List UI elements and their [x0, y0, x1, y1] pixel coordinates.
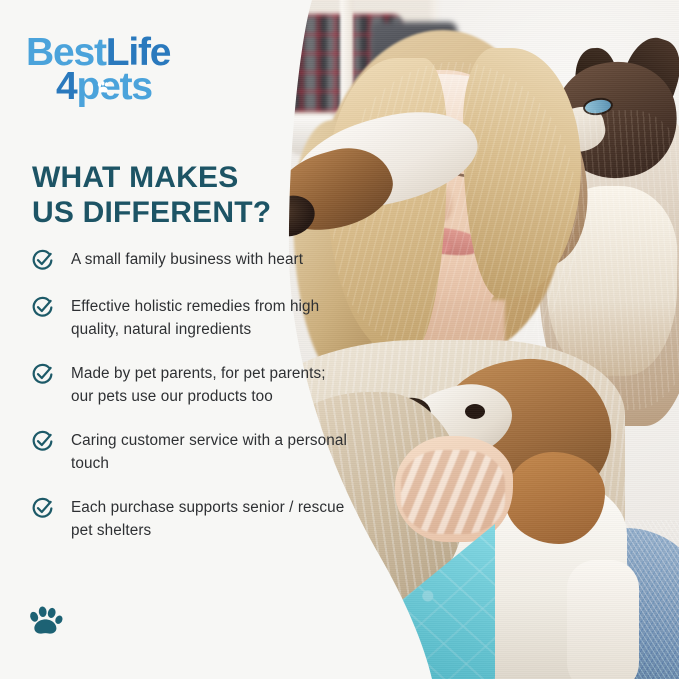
list-item-label: Each purchase supports senior / rescue p…: [71, 496, 351, 543]
brand-logo[interactable]: BestLife 4pets: [26, 34, 170, 106]
headline-line-one: WHAT MAKES: [32, 160, 271, 195]
headline-line-two: US DIFFERENT?: [32, 195, 271, 230]
logo-word-pets: pets: [77, 65, 152, 108]
front-dog-brown-patch: [505, 452, 605, 544]
check-circle-icon: [31, 296, 54, 319]
check-circle-icon: [31, 363, 54, 386]
list-item: Made by pet parents, for pet parents; ou…: [31, 362, 351, 409]
check-circle-icon: [31, 430, 54, 453]
footer-paw-print-icon: [27, 604, 65, 640]
list-item-label: A small family business with heart: [71, 248, 303, 271]
benefits-list: A small family business with heart Effec…: [31, 248, 351, 562]
list-item: Effective holistic remedies from high qu…: [31, 295, 351, 342]
front-dog-hind-leg: [567, 560, 639, 679]
list-item: A small family business with heart: [31, 248, 351, 272]
list-item-label: Made by pet parents, for pet parents; ou…: [71, 362, 351, 409]
advertisement-creative: BestLife 4pets WHAT MAKES US DIFFERENT?: [0, 0, 679, 679]
page-title: WHAT MAKES US DIFFERENT?: [32, 160, 271, 231]
front-dog-eye: [465, 404, 485, 419]
list-item: Caring customer service with a personal …: [31, 429, 351, 476]
woman-fingers: [401, 450, 505, 534]
list-item-label: Effective holistic remedies from high qu…: [71, 295, 351, 342]
list-item-label: Caring customer service with a personal …: [71, 429, 351, 476]
logo-numeral-four: 4: [56, 65, 77, 108]
list-item: Each purchase supports senior / rescue p…: [31, 496, 351, 543]
check-circle-icon: [31, 497, 54, 520]
check-circle-icon: [31, 249, 54, 272]
logo-line-two: 4pets: [56, 68, 170, 105]
